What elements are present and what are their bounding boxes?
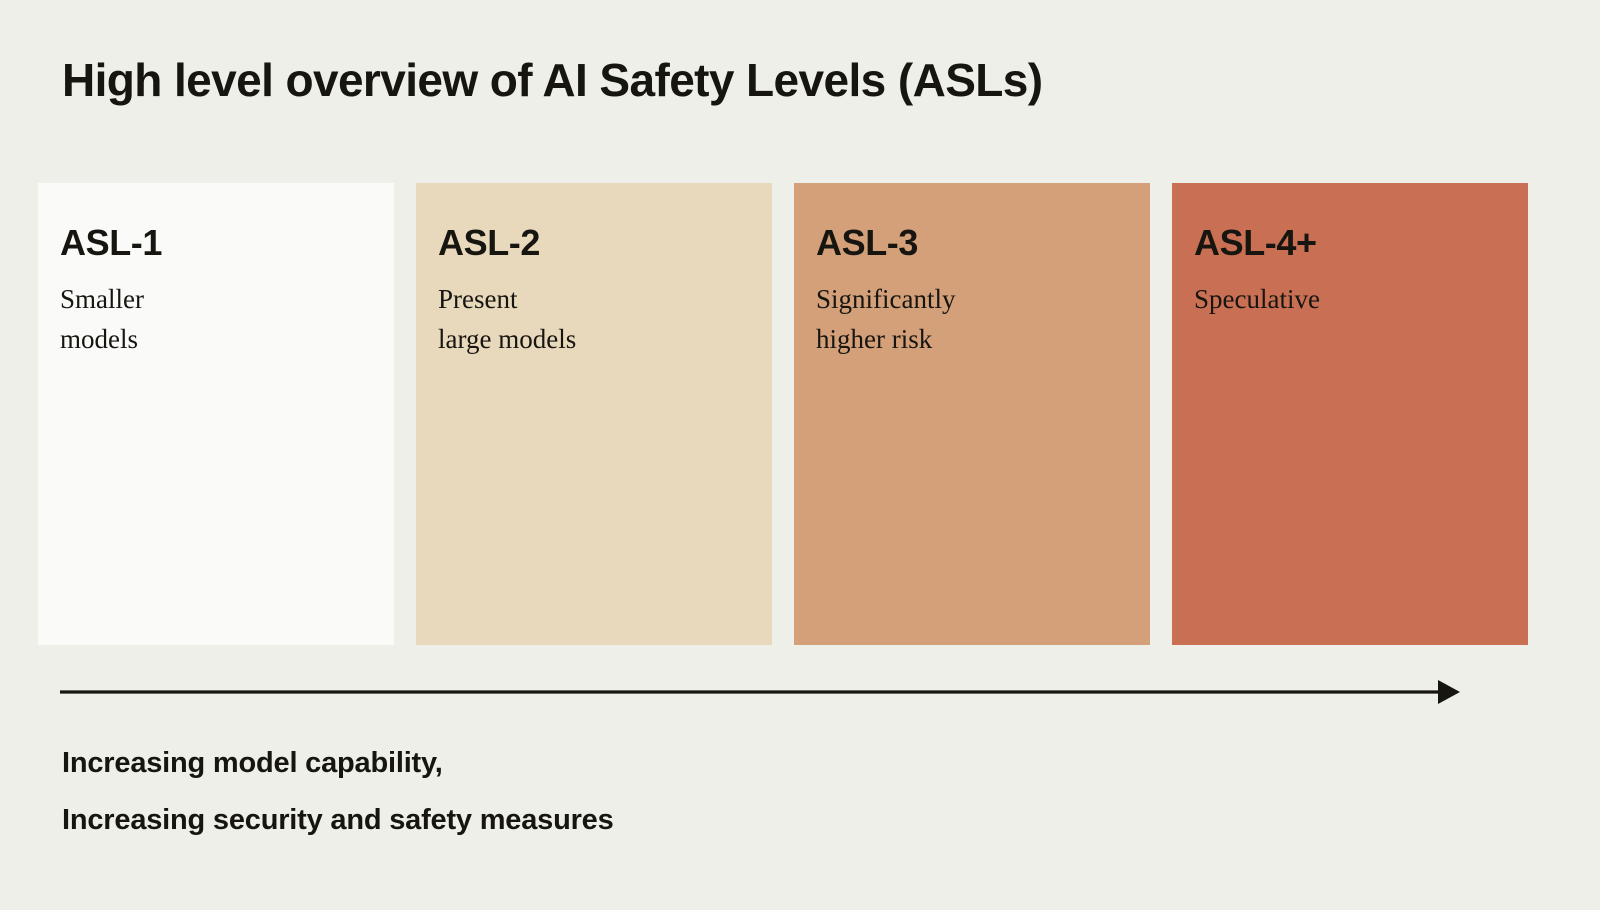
asl-level-name: ASL-3 bbox=[816, 223, 1150, 263]
asl-level-card-4: ASL-4+ Speculative bbox=[1172, 183, 1528, 645]
asl-level-description: Present large models bbox=[438, 279, 772, 360]
asl-overview-figure: High level overview of AI Safety Levels … bbox=[0, 0, 1600, 910]
asl-level-description: Smaller models bbox=[60, 279, 394, 360]
asl-level-card-1: ASL-1 Smaller models bbox=[38, 183, 394, 645]
asl-level-description: Speculative bbox=[1194, 279, 1528, 320]
asl-level-card-2: ASL-2 Present large models bbox=[416, 183, 772, 645]
asl-level-name: ASL-1 bbox=[60, 223, 394, 263]
page-title: High level overview of AI Safety Levels … bbox=[62, 54, 1042, 107]
asl-level-cards: ASL-1 Smaller models ASL-2 Present large… bbox=[38, 183, 1528, 645]
asl-level-description: Significantly higher risk bbox=[816, 279, 1150, 360]
axis-caption-line-2: Increasing security and safety measures bbox=[62, 792, 614, 849]
axis-caption-line-1: Increasing model capability, bbox=[62, 735, 614, 792]
axis-caption: Increasing model capability, Increasing … bbox=[62, 735, 614, 848]
progression-arrow bbox=[60, 672, 1460, 712]
asl-level-card-3: ASL-3 Significantly higher risk bbox=[794, 183, 1150, 645]
asl-level-name: ASL-2 bbox=[438, 223, 772, 263]
asl-level-name: ASL-4+ bbox=[1194, 223, 1528, 263]
right-arrow-icon bbox=[60, 672, 1460, 712]
